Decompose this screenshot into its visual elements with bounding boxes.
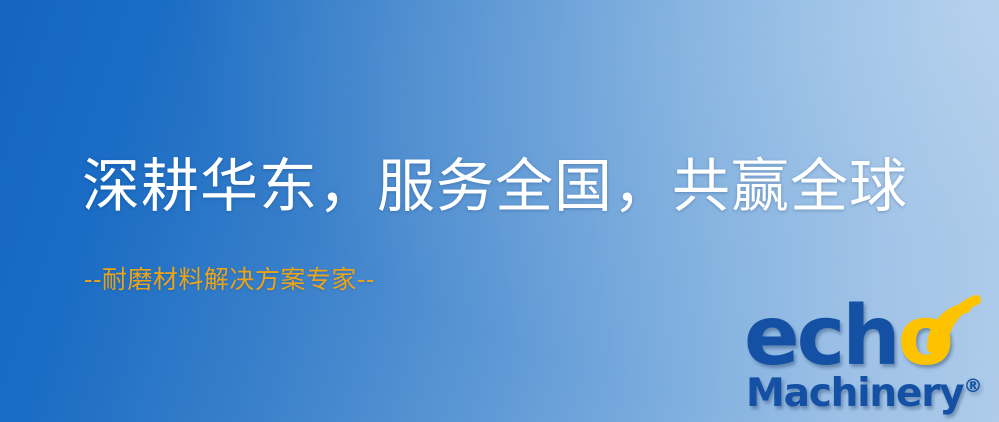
banner-content: 深耕华东，服务全国，共赢全球 --耐磨材料解决方案专家-- echo Machi… bbox=[0, 0, 999, 422]
logo-subtext-label: Machinery bbox=[746, 371, 963, 416]
logo-subtext: Machinery® bbox=[746, 374, 982, 413]
signal-arcs-icon bbox=[916, 294, 986, 358]
logo-wordmark-prefix: ech bbox=[744, 289, 898, 384]
banner-subtitle: --耐磨材料解决方案专家-- bbox=[84, 266, 375, 294]
registered-trademark-icon: ® bbox=[963, 375, 982, 397]
company-logo[interactable]: echo Machinery® bbox=[744, 296, 999, 422]
hero-banner: 深耕华东，服务全国，共赢全球 --耐磨材料解决方案专家-- echo Machi… bbox=[0, 0, 999, 422]
banner-headline: 深耕华东，服务全国，共赢全球 bbox=[82, 156, 908, 217]
